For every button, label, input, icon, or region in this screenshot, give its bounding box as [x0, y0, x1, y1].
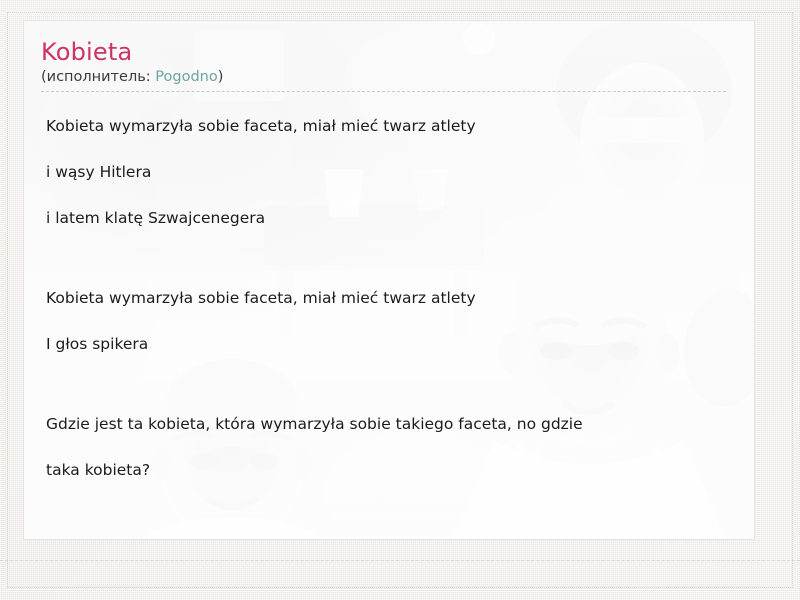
lyric-line: i wąsy Hitlera	[41, 150, 728, 196]
page-dashed-rule	[0, 560, 800, 561]
lyric-line: I głos spikera	[41, 322, 728, 368]
lyric-line: Kobieta wymarzyła sobie faceta, miał mie…	[41, 276, 728, 322]
lyric-line: i latem klatę Szwajcenegera	[41, 196, 728, 242]
lyric-spacer	[41, 242, 728, 276]
lyric-line: Gdzie jest ta kobieta, która wymarzyła s…	[41, 402, 728, 448]
header-divider	[41, 91, 726, 92]
song-subtitle: (исполнитель: Pogodno)	[41, 69, 728, 91]
lyrics-list: Kobieta wymarzyła sobie faceta, miał mie…	[41, 104, 728, 494]
lyric-line: taka kobieta?	[41, 448, 728, 494]
artist-link[interactable]: Pogodno	[155, 69, 217, 85]
song-title: Kobieta	[41, 39, 728, 67]
lyrics-card: Kobieta (исполнитель: Pogodno) Kobieta w…	[23, 20, 755, 540]
subtitle-prefix: (исполнитель:	[41, 69, 155, 85]
lyric-spacer	[41, 368, 728, 402]
subtitle-suffix: )	[218, 69, 224, 85]
lyric-line: Kobieta wymarzyła sobie faceta, miał mie…	[41, 104, 728, 150]
lyrics-body: Kobieta (исполнитель: Pogodno) Kobieta w…	[24, 21, 754, 539]
